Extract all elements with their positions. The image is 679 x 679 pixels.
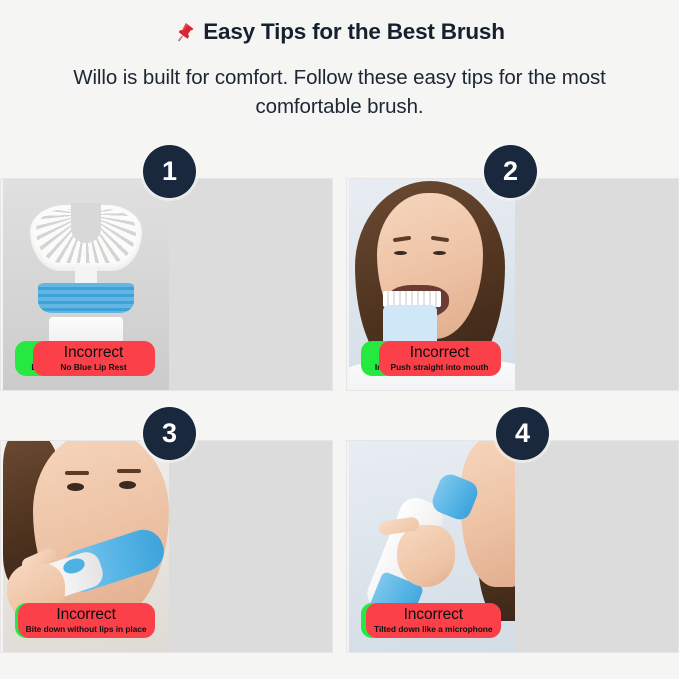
step-badge-4: 4 bbox=[496, 407, 549, 460]
hand bbox=[397, 525, 455, 587]
step-badge-1: 1 bbox=[143, 145, 196, 198]
step-badge-2: 2 bbox=[484, 145, 537, 198]
pushpin-icon bbox=[173, 18, 198, 45]
step-badge-3: 3 bbox=[143, 407, 196, 460]
tips-grid: Correct Blue Lip Rest attached Incorrect… bbox=[0, 178, 679, 678]
tip-2-incorrect-badge: Incorrect Push straight into mouth bbox=[379, 341, 501, 376]
tip-4-incorrect-image: Incorrect Tilted down like a microphone bbox=[347, 441, 515, 652]
eye bbox=[119, 481, 136, 489]
squinting-eye bbox=[394, 251, 407, 255]
badge-subtitle: No Blue Lip Rest bbox=[41, 363, 147, 371]
page-subtitle: Willo is built for comfort. Follow these… bbox=[35, 63, 645, 121]
tip-panel-3[interactable]: Correct Seal lips around lip rest Incorr… bbox=[0, 440, 333, 653]
badge-subtitle: Tilted down like a microphone bbox=[374, 625, 492, 633]
tip-3-incorrect-badge: Incorrect Bite down without lips in plac… bbox=[18, 603, 155, 638]
badge-subtitle: Bite down without lips in place bbox=[26, 625, 147, 633]
badge-title: Incorrect bbox=[374, 607, 492, 623]
badge-title: Incorrect bbox=[41, 345, 147, 361]
tip-1-incorrect-badge: Incorrect No Blue Lip Rest bbox=[33, 341, 155, 376]
tip-panel-1[interactable]: Correct Blue Lip Rest attached Incorrect… bbox=[0, 178, 333, 391]
detached-blue-ring bbox=[38, 283, 134, 313]
eye bbox=[67, 483, 84, 491]
tip-panel-2[interactable]: Correct Insert one side at a time Incorr… bbox=[346, 178, 679, 391]
tip-4-incorrect-badge: Incorrect Tilted down like a microphone bbox=[366, 603, 500, 638]
tip-panel-4[interactable]: Correct Parallel like a trumpet Incorrec… bbox=[346, 440, 679, 653]
squinting-eye bbox=[433, 251, 446, 255]
badge-title: Incorrect bbox=[387, 345, 493, 361]
eyebrow bbox=[65, 471, 89, 475]
eyebrow bbox=[117, 469, 141, 473]
page-title: Easy Tips for the Best Brush bbox=[0, 18, 679, 45]
brush-head-icon bbox=[30, 205, 142, 271]
badge-title: Incorrect bbox=[26, 607, 147, 623]
page-title-text: Easy Tips for the Best Brush bbox=[203, 18, 505, 45]
badge-subtitle: Push straight into mouth bbox=[387, 363, 493, 371]
tip-3-incorrect-image: Incorrect Bite down without lips in plac… bbox=[1, 441, 169, 652]
header: Easy Tips for the Best Brush Willo is bu… bbox=[0, 0, 679, 121]
